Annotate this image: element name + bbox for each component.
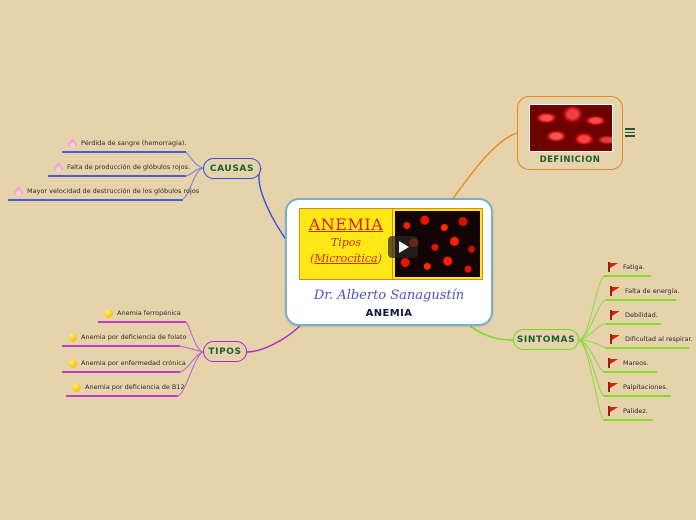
page-title: ANEMIA <box>287 308 491 319</box>
red-flag-icon <box>608 382 619 392</box>
branch-node-causas[interactable]: CAUSAS <box>203 158 261 179</box>
branch-label-sintomas: SINTOMAS <box>517 335 575 345</box>
list-item[interactable]: Debilidad. <box>610 310 658 322</box>
flower-icon <box>54 163 63 172</box>
list-item[interactable]: Mayor velocidad de destrucción de los gl… <box>14 187 199 198</box>
red-blood-cells-photo-icon <box>529 104 613 152</box>
list-item-label: Anemia por deficiencia de B12 <box>85 384 185 391</box>
central-node-anemia[interactable]: ANEMIA Tipos (Microcítica) Dr. Alberto S… <box>285 198 493 326</box>
list-item[interactable]: Anemia por deficiencia de folato <box>68 333 187 344</box>
yellow-dot-icon <box>68 333 77 342</box>
list-item-label: Debilidad. <box>625 312 658 319</box>
red-flag-icon <box>610 310 621 320</box>
list-item-label: Palidez. <box>623 408 648 415</box>
list-item-label: Mareos. <box>623 360 649 367</box>
list-item[interactable]: Dificultad al respirar. <box>610 334 693 346</box>
list-item-label: Falta de producción de glóbulos rojos. <box>67 164 190 171</box>
paren-close: ) <box>378 252 382 265</box>
red-flag-icon <box>610 286 621 296</box>
list-item-label: Dificultad al respirar. <box>625 336 693 343</box>
branch-node-tipos[interactable]: TIPOS <box>203 341 247 362</box>
list-item[interactable]: Anemia por deficiencia de B12 <box>72 383 185 394</box>
list-item[interactable]: Falta de energía. <box>610 286 679 298</box>
red-flag-icon <box>610 334 621 344</box>
yellow-dot-icon <box>104 309 113 318</box>
title-card-line3-word: Microcítica <box>314 252 377 265</box>
list-item[interactable]: Mareos. <box>608 358 649 370</box>
mindmap-canvas: ANEMIA Tipos (Microcítica) Dr. Alberto S… <box>0 0 696 520</box>
list-item[interactable]: Anemia por enfermedad crónica <box>68 359 186 370</box>
title-card-line2: Tipos <box>300 236 392 249</box>
play-icon[interactable] <box>388 236 418 258</box>
list-item[interactable]: Falta de producción de glóbulos rojos. <box>54 163 190 174</box>
title-card-line1: ANEMIA <box>300 215 392 234</box>
play-triangle <box>399 241 409 253</box>
branch-label-tipos: TIPOS <box>208 347 241 357</box>
hamburger-menu-icon[interactable] <box>625 128 635 137</box>
list-item-label: Palpitaciones. <box>623 384 668 391</box>
title-card: ANEMIA Tipos (Microcítica) <box>299 208 393 280</box>
list-item-label: Mayor velocidad de destrucción de los gl… <box>27 188 199 195</box>
list-item-label: Anemia por deficiencia de folato <box>81 334 187 341</box>
red-flag-icon <box>608 358 619 368</box>
yellow-dot-icon <box>72 383 81 392</box>
flower-icon <box>68 139 77 148</box>
branch-node-definicion[interactable]: DEFINICION <box>517 96 623 170</box>
author-name: Dr. Alberto Sanagustín <box>287 288 491 303</box>
hamburger-bar-2 <box>625 132 635 134</box>
title-card-line3: (Microcítica) <box>300 252 392 265</box>
flower-icon <box>14 187 23 196</box>
branch-label-definicion: DEFINICION <box>518 155 622 165</box>
list-item[interactable]: Palidez. <box>608 406 648 418</box>
branch-node-sintomas[interactable]: SINTOMAS <box>513 329 579 350</box>
list-item-label: Pérdida de sangre (hemorragia). <box>81 140 186 147</box>
list-item-label: Anemia ferropénica <box>117 310 181 317</box>
hamburger-bar-1 <box>625 128 635 130</box>
red-flag-icon <box>608 262 619 272</box>
list-item-label: Falta de energía. <box>625 288 679 295</box>
branch-label-causas: CAUSAS <box>210 164 254 174</box>
list-item-label: Fatiga. <box>623 264 645 271</box>
list-item[interactable]: Palpitaciones. <box>608 382 668 394</box>
red-flag-icon <box>608 406 619 416</box>
list-item[interactable]: Fatiga. <box>608 262 645 274</box>
list-item[interactable]: Pérdida de sangre (hemorragia). <box>68 139 186 150</box>
list-item-label: Anemia por enfermedad crónica <box>81 360 186 367</box>
hamburger-bar-3 <box>625 135 635 137</box>
list-item[interactable]: Anemia ferropénica <box>104 309 181 320</box>
yellow-dot-icon <box>68 359 77 368</box>
